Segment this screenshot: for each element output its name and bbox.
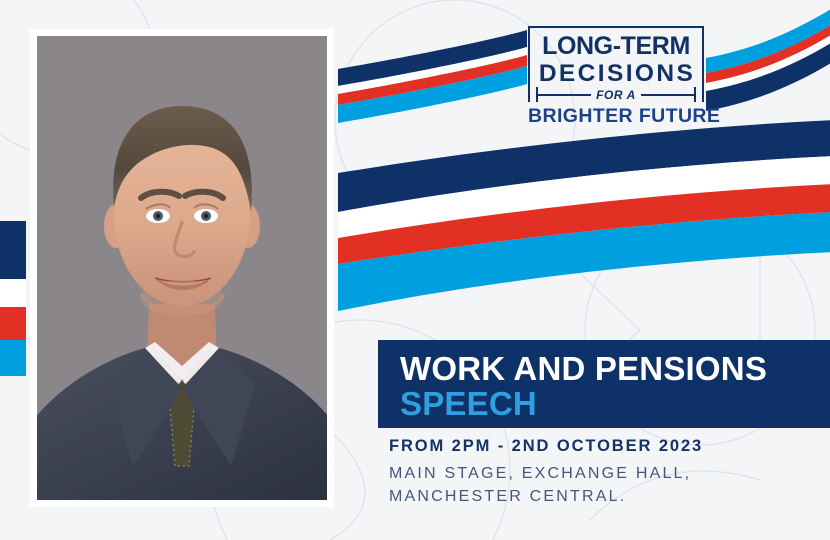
event-poster: LONG-TERM DECISIONS FOR A BRIGHTER FUTUR… [0, 0, 830, 540]
logo-line-brighter-future: BRIGHTER FUTURE [528, 107, 704, 127]
logo-box: LONG-TERM DECISIONS FOR A [528, 26, 704, 102]
ribbon-main-band [338, 120, 830, 311]
title-sub: SPEECH [400, 386, 830, 421]
event-venue-line2: MANCHESTER CENTRAL. [389, 486, 819, 509]
long-term-decisions-logo: LONG-TERM DECISIONS FOR A BRIGHTER FUTUR… [528, 26, 704, 127]
title-band: WORK AND PENSIONS SPEECH [378, 340, 830, 428]
event-venue-line1: MAIN STAGE, EXCHANGE HALL, [389, 463, 819, 486]
logo-line-decisions: DECISIONS [536, 61, 696, 87]
event-datetime: FROM 2PM - 2ND OCTOBER 2023 [389, 437, 819, 457]
event-details: FROM 2PM - 2ND OCTOBER 2023 MAIN STAGE, … [389, 437, 819, 508]
ribbon-top-right [706, 6, 830, 111]
logo-rule-right [641, 94, 694, 96]
ribbon-top-left [338, 30, 527, 123]
title-main: WORK AND PENSIONS [400, 351, 830, 386]
logo-box-right-edge [694, 87, 696, 102]
speaker-portrait [37, 36, 327, 500]
logo-for-a-row: FOR A [536, 87, 696, 102]
logo-connector-for-a: FOR A [596, 89, 636, 101]
logo-line-long-term: LONG-TERM [536, 34, 696, 60]
logo-rule-left [538, 94, 591, 96]
portrait-image [37, 36, 327, 500]
ribbon-left-edge [0, 221, 26, 376]
